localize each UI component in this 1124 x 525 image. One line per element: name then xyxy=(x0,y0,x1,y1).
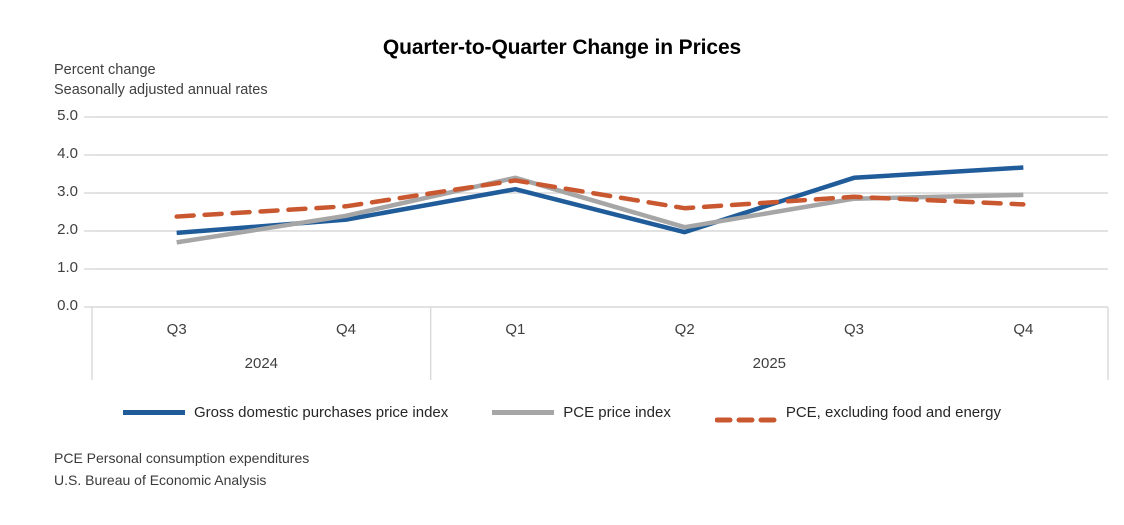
y-axis-tick-label: 5.0 xyxy=(32,107,78,124)
legend-item[interactable]: Gross domestic purchases price index xyxy=(123,404,448,421)
x-axis-tick-label: Q4 xyxy=(1013,321,1033,338)
legend-label: Gross domestic purchases price index xyxy=(194,404,448,421)
footnote-pce-definition: PCE Personal consumption expenditures xyxy=(54,450,309,466)
x-axis-tick-label: Q3 xyxy=(167,321,187,338)
legend-swatch-dashed xyxy=(715,410,777,415)
legend-swatch-solid xyxy=(492,410,554,415)
y-axis-tick-label: 3.0 xyxy=(32,183,78,200)
legend-label: PCE price index xyxy=(563,404,671,421)
x-axis-year-label: 2025 xyxy=(753,355,786,372)
chart-container: Quarter-to-Quarter Change in Prices Perc… xyxy=(0,0,1124,525)
x-axis-tick-label: Q1 xyxy=(505,321,525,338)
legend-item[interactable]: PCE price index xyxy=(492,404,671,421)
x-axis-tick-label: Q3 xyxy=(844,321,864,338)
y-axis-tick-label: 0.0 xyxy=(32,297,78,314)
plot-area xyxy=(0,0,1124,525)
y-axis-tick-label: 1.0 xyxy=(32,259,78,276)
y-axis-tick-label: 2.0 xyxy=(32,221,78,238)
footnote-source: U.S. Bureau of Economic Analysis xyxy=(54,472,266,488)
legend-item[interactable]: PCE, excluding food and energy xyxy=(715,404,1001,421)
chart-legend: Gross domestic purchases price indexPCE … xyxy=(0,404,1124,421)
x-axis-year-label: 2024 xyxy=(245,355,278,372)
legend-swatch-solid xyxy=(123,410,185,415)
legend-label: PCE, excluding food and energy xyxy=(786,404,1001,421)
x-axis-tick-label: Q4 xyxy=(336,321,356,338)
y-axis-tick-label: 4.0 xyxy=(32,145,78,162)
x-axis-tick-label: Q2 xyxy=(675,321,695,338)
